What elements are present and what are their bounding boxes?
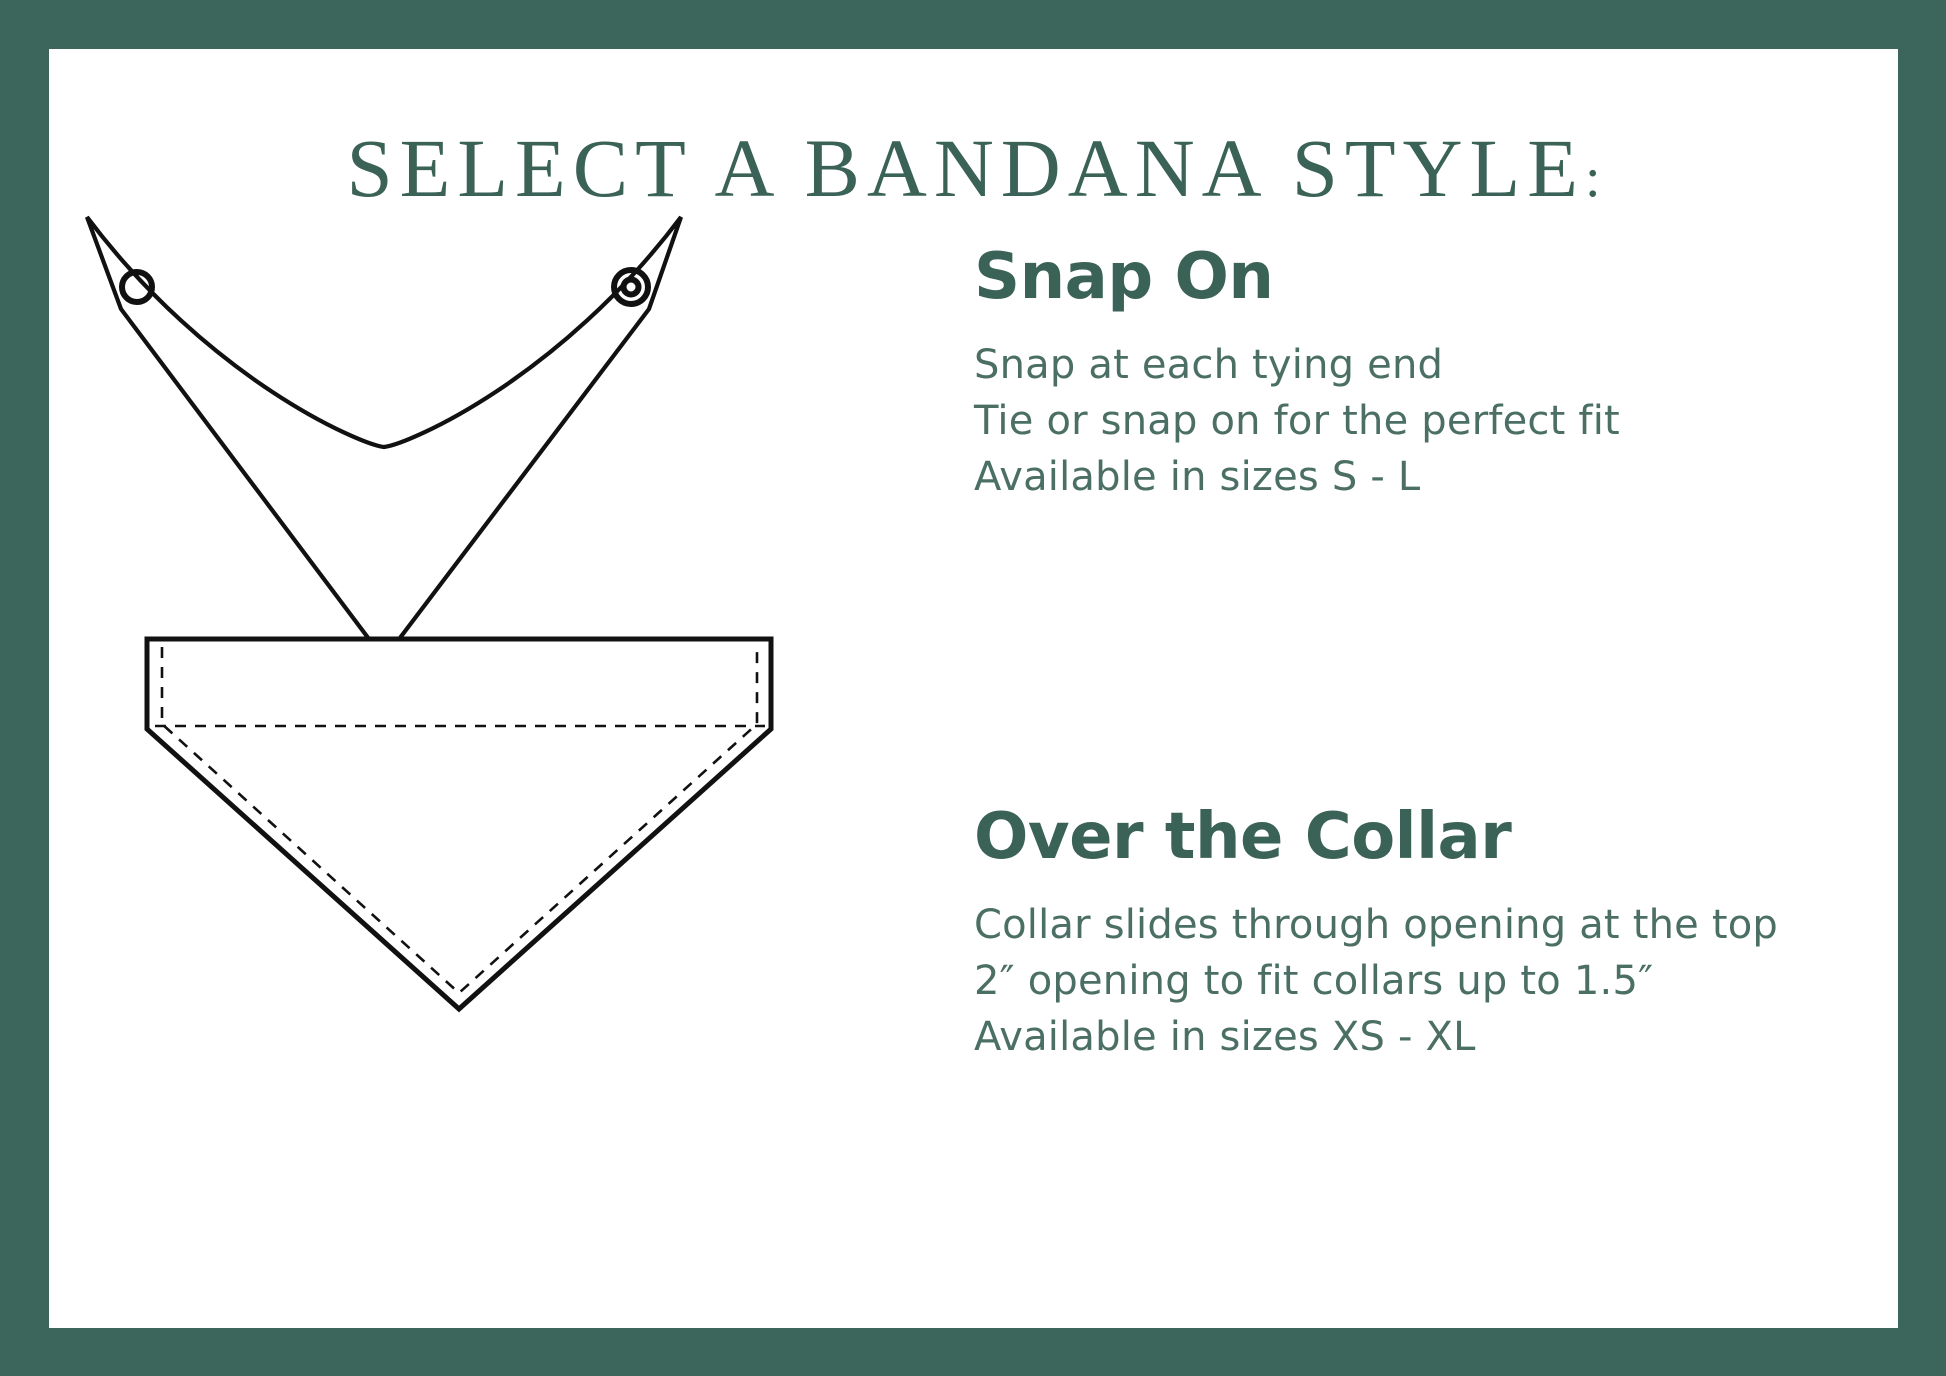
- style-block-snap-on: Snap On Snap at each tying end Tie or sn…: [974, 244, 1620, 505]
- style-line: Available in sizes XS - XL: [974, 1009, 1778, 1065]
- snap-on-bandana-diagram: [59, 199, 879, 639]
- page-title: SELECT A BANDANA STYLE:: [49, 127, 1898, 210]
- style-block-over-the-collar: Over the Collar Collar slides through op…: [974, 804, 1778, 1065]
- style-line: Available in sizes S - L: [974, 449, 1620, 505]
- over-collar-outline-path: [147, 639, 771, 1009]
- style-line: Tie or snap on for the perfect fit: [974, 393, 1620, 449]
- style-description-over-the-collar: Collar slides through opening at the top…: [974, 897, 1778, 1065]
- style-line: 2″ opening to fit collars up to 1.5″: [974, 953, 1778, 1009]
- page-title-colon: :: [1585, 147, 1601, 209]
- poster-canvas: SELECT A BANDANA STYLE:: [49, 49, 1898, 1328]
- poster-root: SELECT A BANDANA STYLE:: [0, 0, 1946, 1376]
- style-line: Collar slides through opening at the top: [974, 897, 1778, 953]
- style-heading-over-the-collar: Over the Collar: [974, 804, 1778, 871]
- snap-on-outline-path: [87, 217, 681, 659]
- style-heading-snap-on: Snap On: [974, 244, 1620, 311]
- over-the-collar-bandana-diagram: [129, 629, 789, 1029]
- style-line: Snap at each tying end: [974, 337, 1620, 393]
- style-description-snap-on: Snap at each tying end Tie or snap on fo…: [974, 337, 1620, 505]
